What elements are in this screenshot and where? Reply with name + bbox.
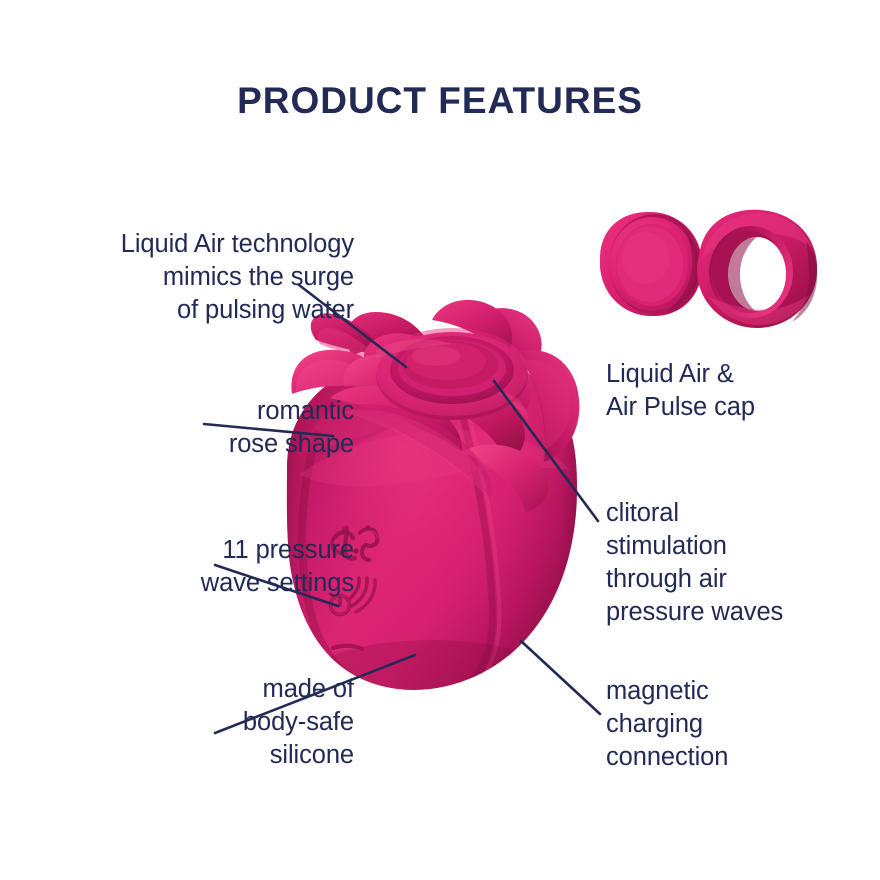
annotation-magnetic-charging-connection: magnetic charging connection [606, 675, 868, 774]
annotation-liquid-air-and-air-pulse-cap: Liquid Air & Air Pulse cap [606, 358, 868, 424]
annotation-clitoral-stimulation: clitoral stimulation through air pressur… [606, 497, 868, 630]
air-pulse-cap [697, 210, 817, 328]
annotation-romantic-rose-shape: romantic rose shape [22, 395, 354, 461]
annotation-pressure-wave-settings: 11 pressure wave settings [22, 534, 354, 600]
annotation-liquid-air-technology: Liquid Air technology mimics the surge o… [22, 228, 354, 327]
annotation-body-safe-silicone: made of body-safe silicone [22, 673, 354, 772]
liquid-air-cap [600, 212, 702, 316]
infographic-canvas: PRODUCT FEATURES [0, 0, 880, 880]
